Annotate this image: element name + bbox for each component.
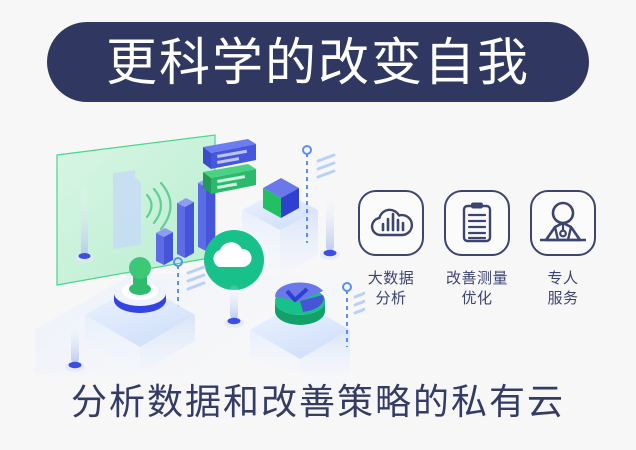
feature-icon-frame [444, 190, 510, 256]
feature-label-line1: 改善测量 [446, 269, 508, 289]
feature-label: 专人 服务 [547, 269, 578, 310]
feature-label: 改善测量 优化 [446, 269, 508, 310]
cloud-badge [204, 230, 264, 290]
feature-label-line2: 服务 [547, 289, 578, 309]
bottle-silhouette [113, 170, 141, 249]
feature-label-line1: 专人 [547, 269, 578, 289]
illustration-scene [35, 125, 365, 375]
pie-chart-3d [275, 282, 325, 325]
header-banner: 更科学的改变自我 [47, 22, 589, 102]
feature-big-data-analysis[interactable]: 大数据 分析 [352, 190, 430, 310]
page-title: 更科学的改变自我 [106, 37, 530, 88]
caption-text: 分析数据和改善策略的私有云 [0, 382, 636, 422]
promo-poster: 更科学的改变自我 [0, 0, 636, 450]
feature-label: 大数据 分析 [368, 269, 415, 310]
feature-icon-frame [358, 190, 424, 256]
feature-label-line2: 分析 [368, 289, 415, 309]
feature-label-line2: 优化 [446, 289, 508, 309]
feature-measurement-optimization[interactable]: 改善测量 优化 [438, 190, 516, 310]
cloud-bar-chart-icon [369, 203, 413, 243]
feature-label-line1: 大数据 [368, 269, 415, 289]
feature-icon-frame [530, 190, 596, 256]
ground-pin [320, 195, 340, 260]
clipboard-icon [457, 201, 497, 245]
feature-dedicated-service[interactable]: 专人 服务 [524, 190, 602, 310]
person-service-icon [538, 200, 588, 246]
feature-badge-list: 大数据 分析 改善测量 [352, 190, 602, 310]
